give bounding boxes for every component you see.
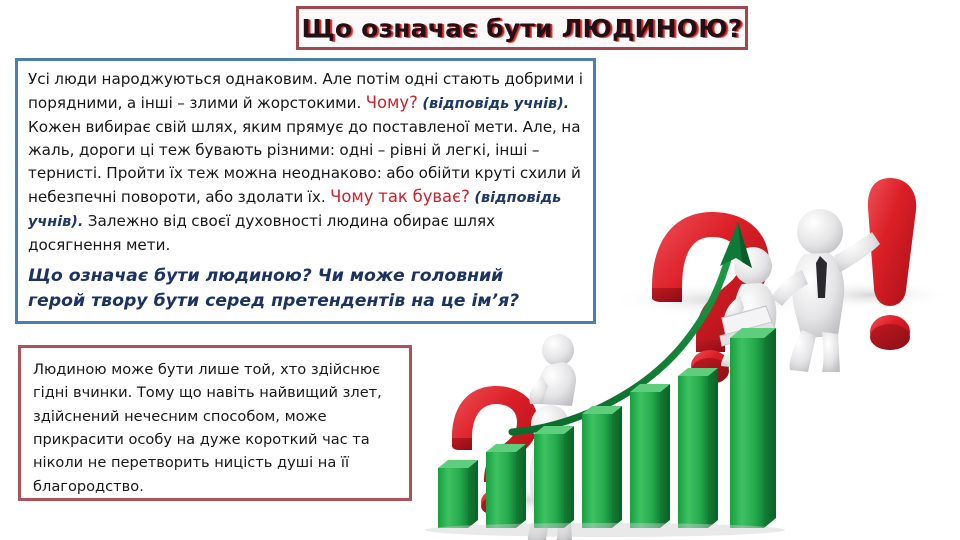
bar — [486, 444, 526, 528]
figure-body — [792, 253, 844, 338]
shadow-ellipse — [790, 280, 950, 310]
bar — [630, 384, 670, 528]
figure-head — [542, 334, 574, 366]
secondary-text-box: Людиною може бути лише той, хто здійснює… — [18, 345, 412, 501]
figure-body — [530, 441, 572, 518]
figure-head — [734, 247, 772, 285]
note-answer-1: (відповідь учнів). — [418, 96, 569, 112]
page-title-banner: Що означає бути ЛЮДИНОЮ? — [296, 6, 748, 50]
figure-leg — [556, 510, 572, 540]
growth-bar-chart — [425, 328, 785, 537]
bar — [730, 328, 776, 528]
laptop-icon — [722, 306, 772, 336]
highlight-question-line-2: герой твору бути серед претендентів на ц… — [28, 289, 584, 314]
page-title: Що означає бути ЛЮДИНОЮ? — [301, 14, 742, 43]
highlight-question-line-1: Що означає бути людиною? Чи може головни… — [28, 264, 584, 289]
figure-leg — [721, 342, 756, 368]
bar — [534, 426, 574, 528]
main-text-box: Усі люди народжуються однаковим. Але пот… — [15, 58, 596, 324]
figure-arm-raised — [834, 232, 880, 272]
question-mark-sitting-figure — [530, 334, 577, 406]
highlight-questions: Що означає бути людиною? Чи може головни… — [28, 264, 584, 313]
exclamation-dot-icon — [870, 315, 910, 349]
shadow-ellipse — [440, 484, 610, 516]
figure-arm — [530, 376, 549, 404]
figure-arm-thinking — [544, 439, 570, 464]
paragraph-segment-3: Залежно від своєї духовності людина обир… — [28, 212, 495, 254]
figure-body — [733, 283, 776, 352]
figure-leg — [790, 330, 816, 372]
figure-leg — [528, 510, 550, 540]
figure-leg — [749, 346, 772, 372]
figure-arm — [772, 270, 808, 306]
figure-head — [797, 209, 843, 255]
shadow-ellipse — [610, 282, 830, 318]
accent-question-2: Чому так буває? — [330, 187, 470, 206]
figure-tie — [816, 256, 827, 298]
figure-leg — [822, 332, 840, 372]
question-mark-thinker-small — [452, 386, 572, 540]
figure-body — [538, 362, 576, 406]
bar — [678, 368, 718, 528]
bar — [438, 460, 478, 528]
accent-question-1: Чому? — [366, 93, 418, 112]
exclamation-mark-figure — [772, 178, 916, 372]
question-mark-laptop-figure — [652, 212, 776, 384]
figure-arm — [724, 296, 744, 324]
exclamation-mark-icon — [868, 178, 916, 306]
question-mark-icon — [452, 386, 538, 482]
main-paragraph: Усі люди народжуються однаковим. Але пот… — [28, 68, 584, 257]
secondary-paragraph: Людиною може бути лише той, хто здійснює… — [33, 358, 399, 498]
bar — [582, 406, 622, 528]
figure-head — [531, 405, 569, 443]
